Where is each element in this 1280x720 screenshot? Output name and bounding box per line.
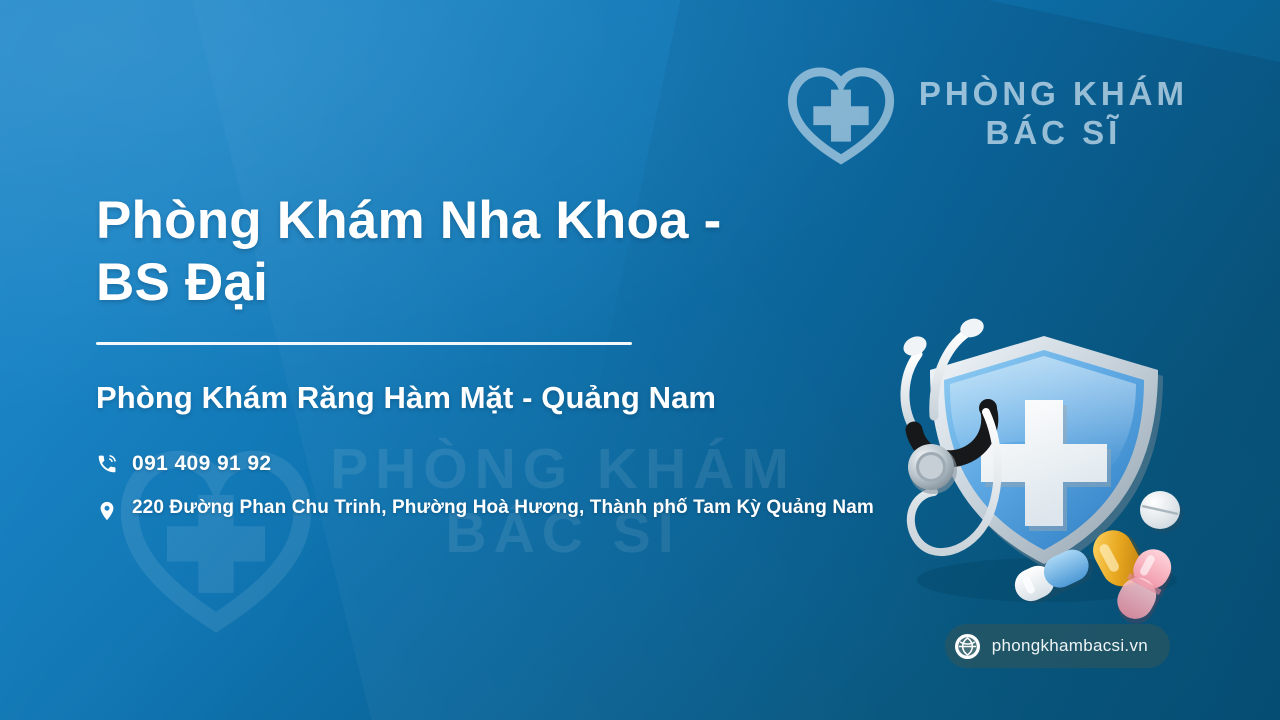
medical-illustration	[872, 312, 1202, 612]
brand-logo: PHÒNG KHÁM BÁC SĨ	[785, 58, 1188, 170]
page-title: Phòng Khám Nha Khoa - BS Đại	[96, 190, 896, 314]
title-divider	[96, 342, 632, 345]
brand-line-1: PHÒNG KHÁM	[919, 75, 1188, 114]
phone-row[interactable]: 091 409 91 92	[96, 450, 896, 478]
clinic-info-block: Phòng Khám Nha Khoa - BS Đại Phòng Khám …	[96, 190, 896, 524]
globe-icon	[954, 633, 981, 660]
clinic-subtitle: Phòng Khám Răng Hàm Mặt - Quảng Nam	[96, 379, 896, 416]
address-row[interactable]: 220 Đường Phan Chu Trinh, Phường Hoà Hươ…	[96, 495, 896, 524]
white-round-tablet	[1140, 491, 1183, 533]
address-text: 220 Đường Phan Chu Trinh, Phường Hoà Hươ…	[132, 495, 874, 521]
medical-shield-stethoscope-pills-graphic	[872, 312, 1202, 612]
brand-line-2: BÁC SĨ	[919, 114, 1188, 153]
map-pin-icon	[96, 498, 118, 524]
title-line-1: Phòng Khám Nha Khoa -	[96, 191, 721, 250]
contact-list: 091 409 91 92 220 Đường Phan Chu Trinh, …	[96, 450, 896, 523]
phone-number: 091 409 91 92	[132, 450, 272, 478]
ringing-phone-icon	[96, 451, 118, 477]
brand-wordmark: PHÒNG KHÁM BÁC SĨ	[919, 75, 1188, 153]
clinic-banner: PHÒNG KHÁM BÁC SĨ PHÒNG KHÁM BÁC SĨ	[0, 0, 1280, 720]
website-badge[interactable]: phongkhambacsi.vn	[945, 624, 1170, 668]
heart-cross-medical-icon	[785, 62, 897, 166]
website-url: phongkhambacsi.vn	[992, 636, 1148, 656]
title-line-2: BS Đại	[96, 253, 268, 312]
